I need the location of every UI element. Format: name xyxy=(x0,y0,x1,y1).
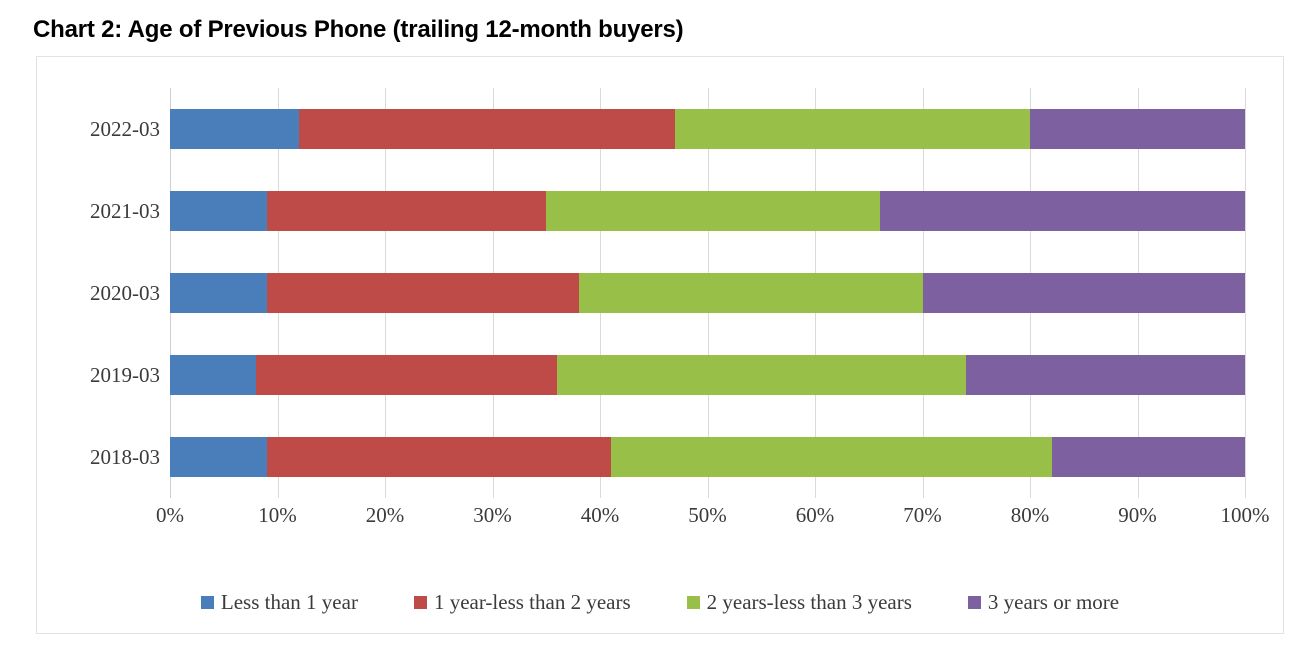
x-axis-tick-label: 20% xyxy=(366,503,405,528)
bars-container xyxy=(170,88,1245,498)
bar-segment[interactable] xyxy=(170,191,267,231)
bar-segment[interactable] xyxy=(1030,109,1245,149)
legend-swatch-icon xyxy=(968,596,981,609)
legend-label: 2 years-less than 3 years xyxy=(707,592,912,613)
bar-segment[interactable] xyxy=(299,109,675,149)
bar-segment[interactable] xyxy=(880,191,1246,231)
bar-segment[interactable] xyxy=(170,355,256,395)
x-axis-tick-label: 40% xyxy=(581,503,620,528)
bar-segment[interactable] xyxy=(546,191,879,231)
legend-label: 1 year-less than 2 years xyxy=(434,592,631,613)
bar-row xyxy=(170,355,1245,395)
chart-page: Chart 2: Age of Previous Phone (trailing… xyxy=(0,0,1300,663)
legend-swatch-icon xyxy=(201,596,214,609)
y-axis-label: 2021-03 xyxy=(30,191,160,231)
bar-segment[interactable] xyxy=(267,437,611,477)
bar-segment[interactable] xyxy=(557,355,966,395)
bar-segment[interactable] xyxy=(256,355,557,395)
legend-item[interactable]: Less than 1 year xyxy=(201,592,358,613)
x-axis-tick-label: 10% xyxy=(258,503,297,528)
x-axis-tick-label: 90% xyxy=(1118,503,1157,528)
bar-row xyxy=(170,109,1245,149)
bar-segment[interactable] xyxy=(611,437,1052,477)
bar-segment[interactable] xyxy=(923,273,1246,313)
bar-segment[interactable] xyxy=(1052,437,1246,477)
x-axis-tick-label: 30% xyxy=(473,503,512,528)
x-axis-tick-label: 60% xyxy=(796,503,835,528)
x-axis-tick-label: 100% xyxy=(1221,503,1270,528)
bar-segment[interactable] xyxy=(966,355,1246,395)
bar-segment[interactable] xyxy=(267,273,579,313)
x-axis-tick-label: 0% xyxy=(156,503,184,528)
chart-legend: Less than 1 year1 year-less than 2 years… xyxy=(36,584,1284,620)
bar-segment[interactable] xyxy=(170,273,267,313)
x-axis-tick-labels: 0%10%20%30%40%50%60%70%80%90%100% xyxy=(170,503,1245,539)
legend-label: 3 years or more xyxy=(988,592,1119,613)
x-axis-tick-label: 80% xyxy=(1011,503,1050,528)
legend-label: Less than 1 year xyxy=(221,592,358,613)
bar-row xyxy=(170,273,1245,313)
legend-item[interactable]: 1 year-less than 2 years xyxy=(414,592,631,613)
y-axis-label: 2022-03 xyxy=(30,109,160,149)
x-axis-tick-label: 50% xyxy=(688,503,727,528)
bar-row xyxy=(170,437,1245,477)
y-axis-label: 2020-03 xyxy=(30,273,160,313)
x-axis-tick-label: 70% xyxy=(903,503,942,528)
page-title: Chart 2: Age of Previous Phone (trailing… xyxy=(33,16,683,44)
bar-segment[interactable] xyxy=(267,191,547,231)
y-axis-category-labels: 2022-032021-032020-032019-032018-03 xyxy=(20,88,160,498)
bar-segment[interactable] xyxy=(579,273,923,313)
gridline-100 xyxy=(1245,88,1246,498)
bar-segment[interactable] xyxy=(170,109,299,149)
y-axis-label: 2019-03 xyxy=(30,355,160,395)
legend-item[interactable]: 2 years-less than 3 years xyxy=(687,592,912,613)
y-axis-label: 2018-03 xyxy=(30,437,160,477)
bar-segment[interactable] xyxy=(675,109,1030,149)
bar-row xyxy=(170,191,1245,231)
legend-item[interactable]: 3 years or more xyxy=(968,592,1119,613)
legend-swatch-icon xyxy=(687,596,700,609)
legend-swatch-icon xyxy=(414,596,427,609)
bar-segment[interactable] xyxy=(170,437,267,477)
